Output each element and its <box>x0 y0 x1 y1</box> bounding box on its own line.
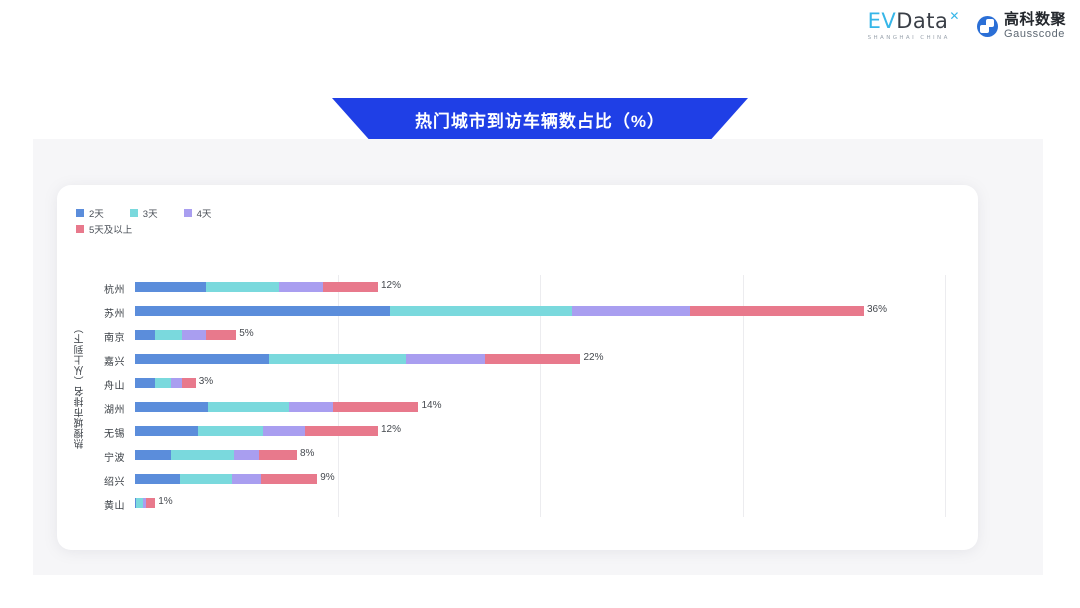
page-title: 热门城市到访车辆数占比（%） <box>415 107 665 132</box>
bar-segment-3天 <box>171 450 234 460</box>
chart-card: 2天3天4天5天及以上 热搜城市排名（从上到下） 杭州12%苏州36%南京5%嘉… <box>57 185 978 550</box>
bar-category-label: 宁波 <box>57 449 125 464</box>
bar-value-label: 36% <box>867 304 887 315</box>
bar-segment-2天 <box>135 402 208 412</box>
evdata-ev-text: EV <box>868 9 897 33</box>
bar-value-label: 1% <box>158 496 172 507</box>
evdata-tagline: SHANGHAI CHINA <box>868 35 950 41</box>
bar-category-label: 绍兴 <box>57 473 125 488</box>
bar-segment-4天 <box>263 426 306 436</box>
chart-title-banner: 热门城市到访车辆数占比（%） <box>332 98 748 140</box>
bar-segment-3天 <box>206 282 279 292</box>
bar-value-label: 9% <box>320 472 334 483</box>
bar-segment-3天 <box>136 498 143 508</box>
bar-segment-5天及以上 <box>333 402 418 412</box>
bar-track <box>135 474 317 484</box>
bar-category-label: 无锡 <box>57 425 125 440</box>
bar-value-label: 8% <box>300 448 314 459</box>
bar-segment-3天 <box>198 426 263 436</box>
bar-track <box>135 282 378 292</box>
bar-segment-4天 <box>279 282 324 292</box>
chart-plot-area: 热搜城市排名（从上到下） 杭州12%苏州36%南京5%嘉兴22%舟山3%湖州14… <box>57 185 978 550</box>
bar-row[interactable]: 无锡12% <box>57 419 978 443</box>
bar-segment-5天及以上 <box>146 498 155 508</box>
bar-segment-2天 <box>135 450 171 460</box>
bar-segment-4天 <box>232 474 260 484</box>
gausscode-en-text: Gausscode <box>1004 29 1066 40</box>
bar-segment-4天 <box>406 354 485 364</box>
bar-segment-2天 <box>135 330 155 340</box>
bar-category-label: 舟山 <box>57 377 125 392</box>
bar-track <box>135 330 236 340</box>
bar-value-label: 12% <box>381 424 401 435</box>
bar-track <box>135 354 581 364</box>
bar-row[interactable]: 黄山1% <box>57 491 978 515</box>
bar-category-label: 嘉兴 <box>57 353 125 368</box>
bar-segment-2天 <box>135 426 198 436</box>
bar-segment-2天 <box>135 282 206 292</box>
evdata-x-icon: ✕ <box>949 9 960 23</box>
bar-segment-5天及以上 <box>690 306 864 316</box>
bar-value-label: 14% <box>422 400 442 411</box>
bar-track <box>135 498 155 508</box>
bar-row[interactable]: 湖州14% <box>57 395 978 419</box>
bar-segment-5天及以上 <box>206 330 236 340</box>
bar-segment-4天 <box>234 450 258 460</box>
bar-value-label: 12% <box>381 280 401 291</box>
bar-row[interactable]: 苏州36% <box>57 299 978 323</box>
bar-category-label: 湖州 <box>57 401 125 416</box>
bar-track <box>135 402 419 412</box>
bar-segment-2天 <box>135 354 269 364</box>
bar-segment-3天 <box>155 378 171 388</box>
bar-category-label: 黄山 <box>57 497 125 512</box>
bar-row[interactable]: 嘉兴22% <box>57 347 978 371</box>
bar-segment-4天 <box>182 330 206 340</box>
bar-segment-5天及以上 <box>485 354 580 364</box>
bar-segment-4天 <box>572 306 689 316</box>
bar-segment-3天 <box>269 354 407 364</box>
bar-segment-4天 <box>171 378 181 388</box>
gausscode-logo: 高科数聚 Gausscode <box>977 12 1066 40</box>
bar-segment-4天 <box>289 402 334 412</box>
bar-row[interactable]: 舟山3% <box>57 371 978 395</box>
bar-segment-3天 <box>390 306 572 316</box>
gausscode-cn-text: 高科数聚 <box>1004 12 1066 27</box>
bar-track <box>135 378 196 388</box>
gausscode-mark-icon <box>977 16 998 37</box>
gausscode-wordmark: 高科数聚 Gausscode <box>1004 12 1066 40</box>
bar-segment-5天及以上 <box>323 282 378 292</box>
bar-value-label: 22% <box>584 352 604 363</box>
brand-header: EVData✕ SHANGHAI CHINA 高科数聚 Gausscode <box>0 0 1080 56</box>
bar-row[interactable]: 南京5% <box>57 323 978 347</box>
bar-segment-5天及以上 <box>261 474 318 484</box>
bar-segment-5天及以上 <box>182 378 196 388</box>
bar-track <box>135 306 864 316</box>
bar-segment-2天 <box>135 306 390 316</box>
bar-row[interactable]: 绍兴9% <box>57 467 978 491</box>
bar-segment-3天 <box>180 474 233 484</box>
bar-segment-3天 <box>208 402 289 412</box>
brand-logo-group: EVData✕ SHANGHAI CHINA 高科数聚 Gausscode <box>868 11 1066 41</box>
bar-track <box>135 426 378 436</box>
bar-segment-2天 <box>135 378 155 388</box>
bar-value-label: 3% <box>199 376 213 387</box>
bar-segment-5天及以上 <box>305 426 378 436</box>
bar-segment-3天 <box>155 330 181 340</box>
bar-category-label: 南京 <box>57 329 125 344</box>
bar-category-label: 杭州 <box>57 281 125 296</box>
chart-bars: 杭州12%苏州36%南京5%嘉兴22%舟山3%湖州14%无锡12%宁波8%绍兴9… <box>57 275 978 517</box>
evdata-logo: EVData✕ SHANGHAI CHINA <box>868 11 959 41</box>
bar-segment-5天及以上 <box>259 450 297 460</box>
bar-track <box>135 450 297 460</box>
bar-category-label: 苏州 <box>57 305 125 320</box>
evdata-data-text: Data <box>896 9 948 33</box>
bar-row[interactable]: 杭州12% <box>57 275 978 299</box>
bar-row[interactable]: 宁波8% <box>57 443 978 467</box>
evdata-wordmark: EVData✕ <box>868 11 959 34</box>
bar-value-label: 5% <box>239 328 253 339</box>
bar-segment-2天 <box>135 474 180 484</box>
